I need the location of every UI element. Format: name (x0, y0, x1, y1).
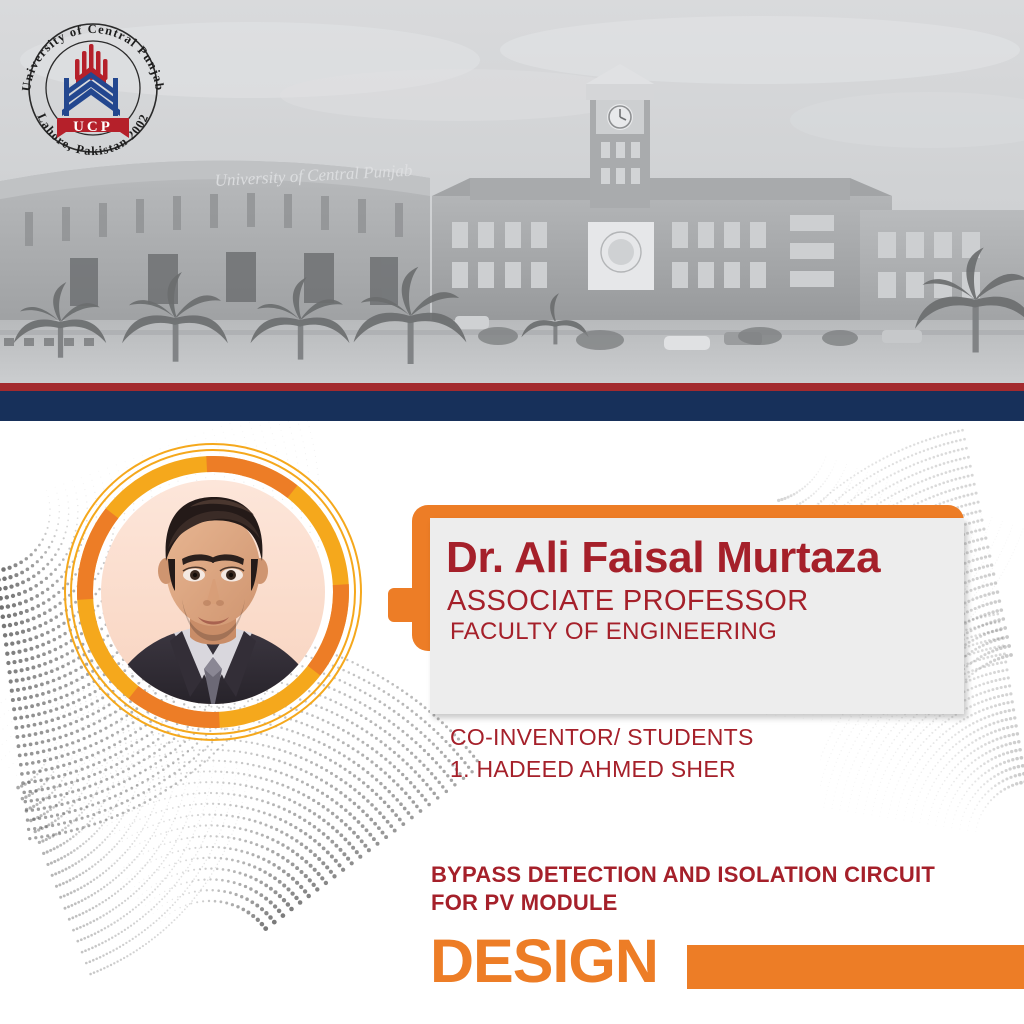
header-banner: University of Central Punjab (0, 0, 1024, 383)
faculty-designation: ASSOCIATE PROFESSOR (447, 585, 809, 618)
ucp-logo-mark: University of Central Punjab Lahore, Pak… (8, 18, 178, 158)
co-inventor-item-1: 1. HADEED AHMED SHER (450, 756, 736, 783)
faculty-portrait (62, 441, 364, 743)
faculty-name: Dr. Ali Faisal Murtaza (446, 532, 966, 584)
logo-monogram: UCP (73, 119, 113, 135)
invention-title-line1: BYPASS DETECTION AND ISOLATION CIRCUIT (431, 862, 935, 888)
invention-category: DESIGN (430, 931, 658, 992)
header-stripe-navy (0, 391, 1024, 421)
poster-canvas: University of Central Punjab (0, 0, 1024, 1024)
header-stripe-red (0, 383, 1024, 391)
faculty-department: FACULTY OF ENGINEERING (450, 618, 777, 646)
invention-category-bar (687, 945, 1024, 989)
co-inventor-heading: CO-INVENTOR/ STUDENTS (450, 724, 754, 751)
faculty-portrait-image (62, 441, 364, 743)
name-card-connector (388, 588, 422, 622)
ucp-logo: University of Central Punjab Lahore, Pak… (8, 18, 178, 158)
invention-title-line2: FOR PV MODULE (431, 890, 618, 916)
